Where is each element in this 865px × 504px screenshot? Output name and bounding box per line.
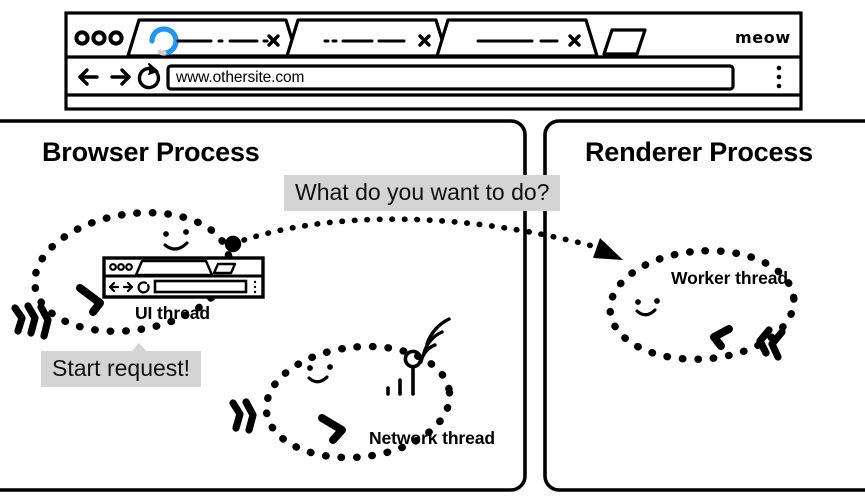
browser-tab-3[interactable] [437, 20, 597, 56]
browser-menu-icon[interactable] [777, 66, 782, 89]
start-request-callout: Start request! [41, 351, 201, 387]
browser-tab-1[interactable] [128, 20, 297, 56]
network-thread-label: Network thread [369, 430, 495, 448]
new-tab-button[interactable] [604, 30, 645, 54]
network-antenna-icon [388, 319, 449, 394]
browser-process-title: Browser Process [42, 139, 260, 166]
diagram-canvas: Browser Process Renderer Process What do… [0, 0, 865, 504]
worker-thread-figure [606, 245, 797, 366]
browser-tab-2[interactable] [287, 20, 447, 56]
mini-browser-window [104, 258, 263, 297]
start-request-callout-tail [131, 343, 147, 352]
message-arrow-ui-to-renderer [225, 219, 623, 260]
worker-thread-label: Worker thread [671, 270, 788, 288]
question-callout: What do you want to do? [284, 175, 560, 211]
address-bar-value[interactable]: www.othersite.com [176, 70, 304, 86]
renderer-process-panel [545, 121, 865, 490]
ui-thread-label: UI thread [135, 305, 210, 323]
renderer-process-title: Renderer Process [585, 139, 813, 166]
browser-brand-label: meow [735, 30, 791, 46]
